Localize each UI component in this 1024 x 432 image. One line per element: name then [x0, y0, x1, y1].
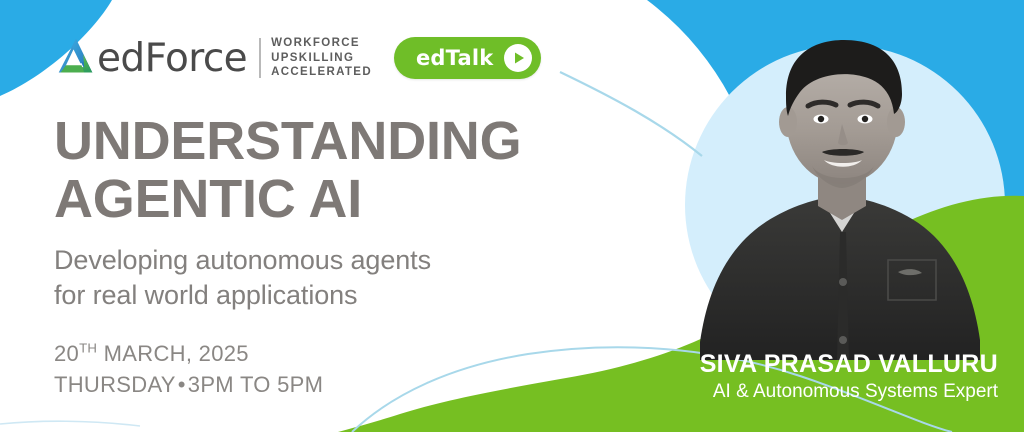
event-day-suffix: TH [79, 341, 97, 356]
speaker-info: SIVA PRASAD VALLURU AI & Autonomous Syst… [700, 350, 998, 405]
event-day: 20 [54, 341, 79, 366]
page-title: UNDERSTANDING AGENTIC AI [54, 112, 521, 229]
brand-word-force: Force [145, 36, 248, 81]
edtalk-label: edTalk [416, 48, 493, 69]
subtitle-line-1: Developing autonomous agents [54, 243, 431, 278]
headline-line-2: AGENTIC AI [54, 170, 521, 228]
event-datetime: 20TH MARCH, 2025 THURSDAY•3PM TO 5PM [54, 339, 323, 401]
brand-tagline: WORKFORCE UPSKILLING ACCELERATED [271, 36, 372, 80]
tagline-line-3: ACCELERATED [271, 65, 372, 80]
edtalk-badge[interactable]: edTalk [394, 37, 541, 79]
speaker-name: SIVA PRASAD VALLURU [700, 350, 998, 379]
tagline-line-2: UPSKILLING [271, 51, 372, 66]
event-time: 3PM TO 5PM [188, 372, 323, 397]
brand-wordmark: edForce [97, 39, 247, 78]
event-separator: • [176, 372, 188, 397]
edforce-triangle-logo-icon [56, 36, 96, 80]
portrait-shirt-button-2 [839, 336, 847, 344]
edtalk-banner: edForce WORKFORCE UPSKILLING ACCELERATED… [0, 0, 1024, 432]
brand-divider [259, 38, 261, 78]
play-icon[interactable] [504, 44, 532, 72]
page-subtitle: Developing autonomous agents for real wo… [54, 243, 431, 312]
portrait-shirt-button [839, 278, 847, 286]
tagline-line-1: WORKFORCE [271, 36, 372, 51]
headline-line-1: UNDERSTANDING [54, 111, 521, 171]
event-date-line: 20TH MARCH, 2025 [54, 339, 323, 370]
event-time-line: THURSDAY•3PM TO 5PM [54, 370, 323, 401]
brand-word-ed: ed [97, 36, 145, 81]
subtitle-line-2: for real world applications [54, 278, 431, 313]
portrait-pupil-left [818, 116, 824, 122]
speaker-title: AI & Autonomous Systems Expert [700, 380, 998, 404]
event-weekday: THURSDAY [54, 372, 176, 397]
portrait-pupil-right [862, 116, 868, 122]
brand-header: edForce WORKFORCE UPSKILLING ACCELERATED… [56, 36, 541, 80]
event-month-year: MARCH, 2025 [97, 341, 249, 366]
portrait-figure [700, 40, 980, 360]
